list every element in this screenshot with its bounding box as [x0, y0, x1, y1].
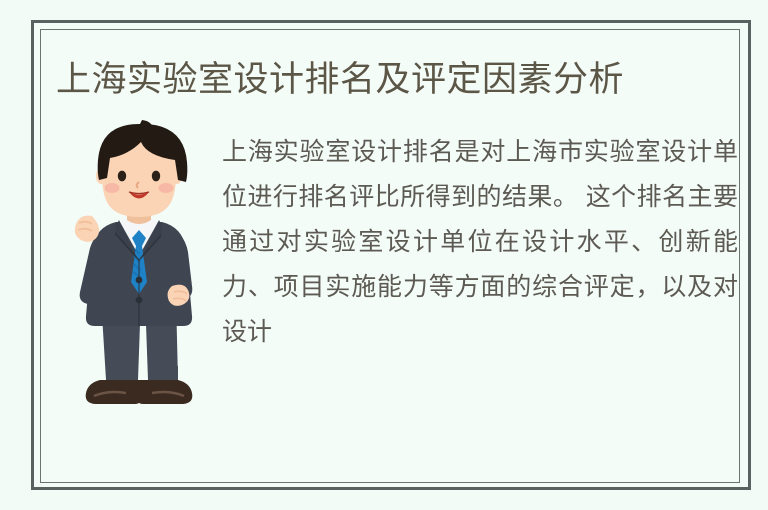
jacket-button-bottom: [136, 297, 143, 304]
left-eye: [118, 171, 126, 182]
businessman-cheering-illustration: [54, 118, 224, 418]
body-paragraph: 上海实验室设计排名是对上海市实验室设计单位进行排名评比所得到的结果。 这个排名主…: [222, 130, 738, 355]
left-cheek: [105, 183, 120, 193]
poster-canvas: 上海实验室设计排名及评定因素分析 上海实验室设计排名是对上海市实验室设计单位进行…: [0, 0, 768, 510]
right-cheek: [159, 183, 174, 193]
jacket-button-top: [136, 277, 143, 284]
page-title: 上海实验室设计排名及评定因素分析: [56, 57, 728, 103]
right-eye: [152, 171, 160, 182]
